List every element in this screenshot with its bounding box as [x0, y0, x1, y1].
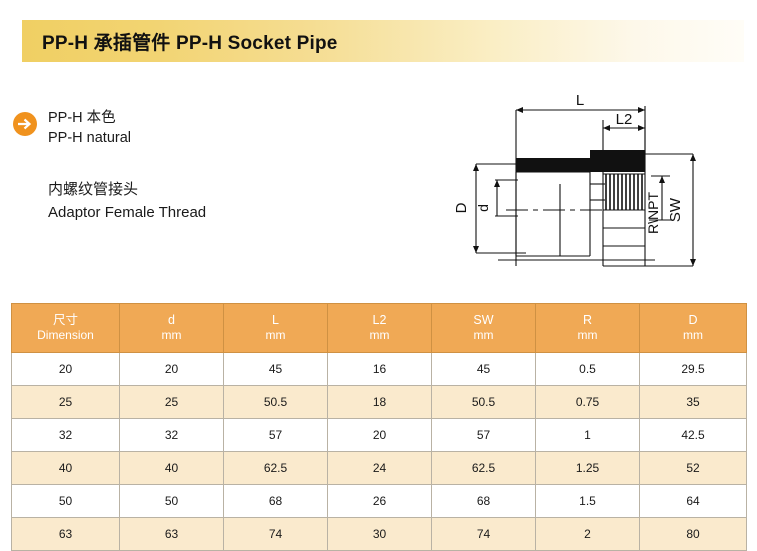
cell-l2: 24: [328, 452, 432, 485]
cell-d: 25: [120, 386, 224, 419]
cell-r: 0.5: [536, 353, 640, 386]
table-row: 50 50 68 26 68 1.5 64: [12, 485, 747, 518]
column-header-d: d mm: [120, 304, 224, 353]
product-name-cn: 内螺纹管接头: [48, 178, 206, 201]
cell-r: 1.5: [536, 485, 640, 518]
cell-l: 74: [224, 518, 328, 551]
page-title: PP-H 承插管件 PP-H Socket Pipe: [22, 28, 338, 55]
product-name-block: 内螺纹管接头 Adaptor Female Thread: [48, 178, 206, 224]
cell-dimension: 20: [12, 353, 120, 386]
column-header-main: SW: [432, 313, 535, 328]
cell-l: 62.5: [224, 452, 328, 485]
cell-d: 20: [120, 353, 224, 386]
label-L2: L2: [616, 111, 633, 128]
cell-r: 1.25: [536, 452, 640, 485]
arrow-circle-right-icon: [12, 111, 38, 137]
cell-d-outer: 64: [640, 485, 747, 518]
column-header-main: L2: [328, 313, 431, 328]
cell-d-outer: 29.5: [640, 353, 747, 386]
table-row: 25 25 50.5 18 50.5 0.75 35: [12, 386, 747, 419]
column-header-l2: L2 mm: [328, 304, 432, 353]
cell-dimension: 50: [12, 485, 120, 518]
cell-sw: 50.5: [432, 386, 536, 419]
cell-l: 50.5: [224, 386, 328, 419]
cell-d-outer: 42.5: [640, 419, 747, 452]
table-row: 32 32 57 20 57 1 42.5: [12, 419, 747, 452]
material-label-cn: PP-H 本色: [48, 110, 116, 126]
cell-d: 63: [120, 518, 224, 551]
cell-d: 40: [120, 452, 224, 485]
label-thread-spec: R\NPT: [645, 192, 661, 234]
material-label-en: PP-H natural: [48, 130, 131, 146]
column-header-r: R mm: [536, 304, 640, 353]
cell-dimension: 32: [12, 419, 120, 452]
cell-l2: 26: [328, 485, 432, 518]
column-header-main: L: [224, 313, 327, 328]
column-header-sub: mm: [536, 328, 639, 343]
cell-d-outer: 35: [640, 386, 747, 419]
label-D: D: [453, 202, 470, 213]
technical-drawing: L L2 D d R\NPT SW: [440, 88, 757, 288]
page-title-banner: PP-H 承插管件 PP-H Socket Pipe: [22, 20, 744, 62]
column-header-main: 尺寸: [12, 313, 119, 328]
cell-r: 0.75: [536, 386, 640, 419]
cell-d-outer: 80: [640, 518, 747, 551]
cell-r: 2: [536, 518, 640, 551]
cell-l2: 30: [328, 518, 432, 551]
cell-sw: 57: [432, 419, 536, 452]
label-d: d: [475, 204, 491, 212]
cell-sw: 45: [432, 353, 536, 386]
column-header-dimension: 尺寸 Dimension: [12, 304, 120, 353]
column-header-main: D: [640, 313, 746, 328]
column-header-sw: SW mm: [432, 304, 536, 353]
cell-d-outer: 52: [640, 452, 747, 485]
socket-pipe-diagram-svg: L L2 D d R\NPT SW: [440, 88, 757, 288]
cell-l2: 18: [328, 386, 432, 419]
table-body: 20 20 45 16 45 0.5 29.5 25 25 50.5 18 50…: [12, 353, 747, 551]
product-description: PP-H 本色 PP-H natural: [12, 108, 312, 148]
label-L: L: [576, 92, 584, 109]
cell-sw: 62.5: [432, 452, 536, 485]
table-header-row: 尺寸 Dimension d mm L mm L2 mm SW mm R mm: [12, 304, 747, 353]
column-header-main: R: [536, 313, 639, 328]
table-row: 63 63 74 30 74 2 80: [12, 518, 747, 551]
cell-d: 50: [120, 485, 224, 518]
cell-dimension: 25: [12, 386, 120, 419]
column-header-sub: mm: [640, 328, 746, 343]
cell-dimension: 63: [12, 518, 120, 551]
label-SW: SW: [667, 197, 684, 222]
table-row: 40 40 62.5 24 62.5 1.25 52: [12, 452, 747, 485]
column-header-sub: mm: [328, 328, 431, 343]
column-header-l: L mm: [224, 304, 328, 353]
cell-l: 68: [224, 485, 328, 518]
column-header-main: d: [120, 313, 223, 328]
product-name-en: Adaptor Female Thread: [48, 201, 206, 224]
cell-sw: 74: [432, 518, 536, 551]
table-row: 20 20 45 16 45 0.5 29.5: [12, 353, 747, 386]
cell-r: 1: [536, 419, 640, 452]
column-header-sub: mm: [224, 328, 327, 343]
column-header-sub: mm: [120, 328, 223, 343]
cell-l2: 20: [328, 419, 432, 452]
specification-table: 尺寸 Dimension d mm L mm L2 mm SW mm R mm: [11, 303, 747, 551]
column-header-sub: Dimension: [12, 328, 119, 343]
column-header-d-outer: D mm: [640, 304, 747, 353]
column-header-sub: mm: [432, 328, 535, 343]
cell-d: 32: [120, 419, 224, 452]
cell-dimension: 40: [12, 452, 120, 485]
cell-l2: 16: [328, 353, 432, 386]
cell-l: 45: [224, 353, 328, 386]
cell-sw: 68: [432, 485, 536, 518]
cell-l: 57: [224, 419, 328, 452]
